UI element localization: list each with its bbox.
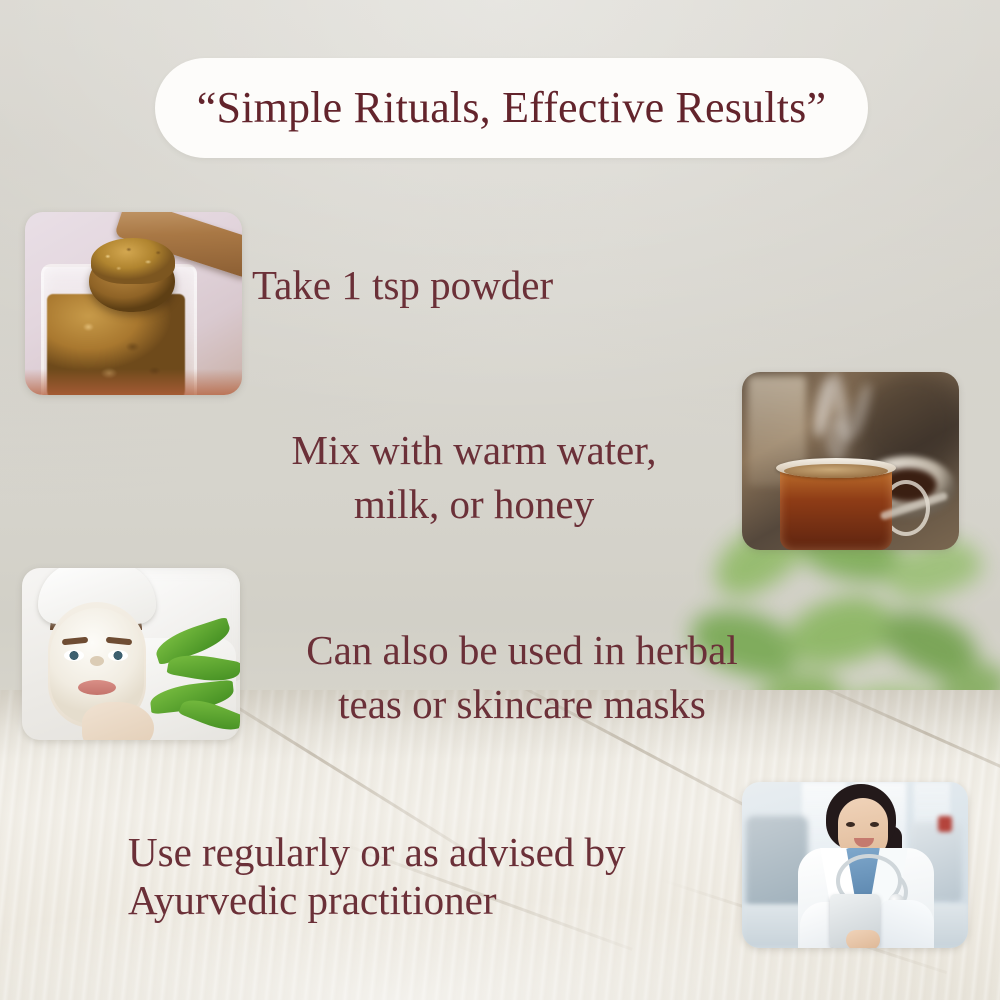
promo-graphic: “Simple Rituals, Effective Results” Take…	[0, 0, 1000, 1000]
mask-photo-content	[22, 568, 240, 740]
step-3-label: Can also be used in herbal teas or skinc…	[266, 623, 778, 731]
tea-photo-content	[742, 372, 959, 550]
step-2-line-1: Mix with warm water,	[248, 423, 700, 477]
step-2-label: Mix with warm water, milk, or honey	[248, 423, 700, 531]
step-2-line-2: milk, or honey	[248, 477, 700, 531]
step-4-line-2: Ayurvedic practitioner	[128, 876, 748, 924]
title-banner: “Simple Rituals, Effective Results”	[155, 58, 868, 158]
step-1-label: Take 1 tsp powder	[252, 258, 553, 312]
hot-tea-photo[interactable]	[742, 372, 959, 550]
doctor-photo-content	[742, 782, 968, 948]
face-mask-photo[interactable]	[22, 568, 240, 740]
step-4-line-1: Use regularly or as advised by	[128, 828, 748, 876]
powder-spoon-photo[interactable]	[25, 212, 242, 395]
step-1-line-1: Take 1 tsp powder	[252, 258, 553, 312]
powder-photo-content	[25, 212, 242, 395]
page-title: “Simple Rituals, Effective Results”	[197, 86, 826, 130]
doctor-photo[interactable]	[742, 782, 968, 948]
step-3-line-1: Can also be used in herbal	[266, 623, 778, 677]
step-4-label: Use regularly or as advised by Ayurvedic…	[128, 828, 748, 925]
step-3-line-2: teas or skincare masks	[266, 677, 778, 731]
